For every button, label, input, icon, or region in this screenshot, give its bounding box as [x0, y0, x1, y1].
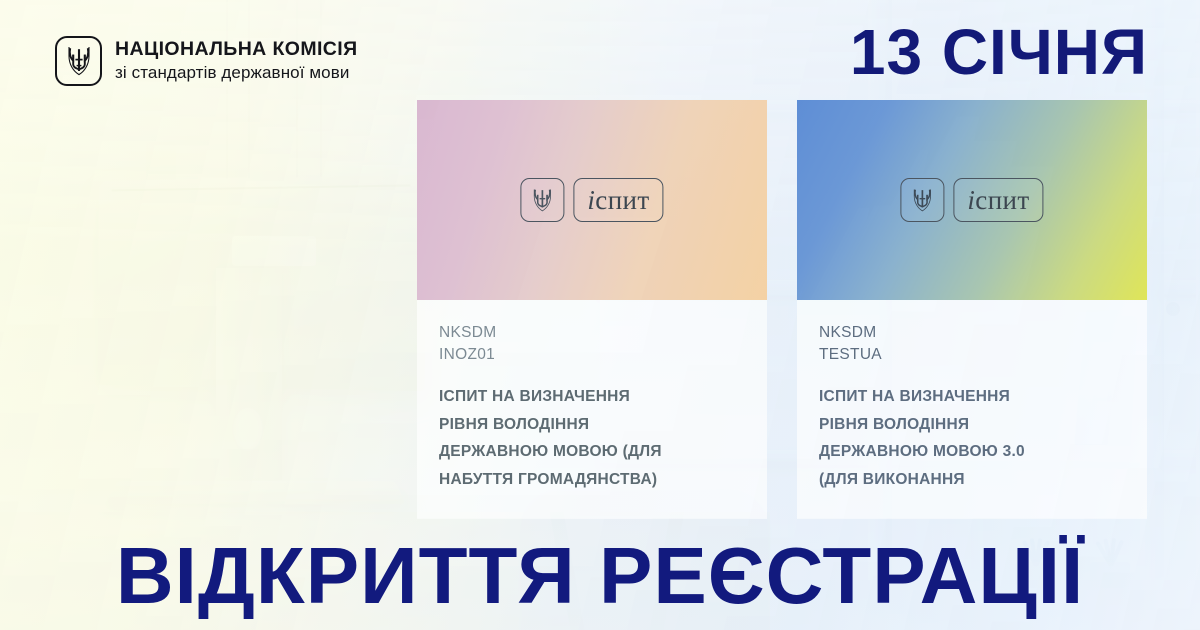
exam-title-line: РІВНЯ ВОЛОДІННЯ [439, 411, 745, 439]
brand-line-2: зі стандартів державної мови [115, 63, 358, 83]
exam-card-thumbnail: iспит [417, 100, 767, 300]
exam-card-list: iспит NKSDM INOZ01 ІСПИТ НА ВИЗНАЧЕННЯ Р… [417, 100, 1147, 518]
exam-card-codes: NKSDM INOZ01 [439, 322, 745, 367]
exam-title-line: НАБУТТЯ ГРОМАДЯНСТВА) [439, 466, 745, 494]
ukraine-trident-icon [520, 178, 564, 222]
exam-card-thumbnail: iспит [797, 100, 1147, 300]
exam-title-line: ІСПИТ НА ВИЗНАЧЕННЯ [819, 383, 1125, 411]
exam-org-code: NKSDM [439, 322, 745, 344]
ispyt-wordmark-rest: спит [595, 187, 649, 214]
exam-code: TESTUA [819, 344, 1125, 366]
exam-code: INOZ01 [439, 344, 745, 366]
brand-line-1: Національна комісія [115, 38, 358, 61]
exam-title-line: ІСПИТ НА ВИЗНАЧЕННЯ [439, 383, 745, 411]
brand-lockup: Національна комісія зі стандартів держав… [55, 36, 358, 86]
poster-content: Національна комісія зі стандартів держав… [0, 0, 1200, 630]
ispyt-logo: iспит [900, 178, 1043, 222]
brand-text: Національна комісія зі стандартів держав… [115, 38, 358, 83]
date-headline: 13 СІЧНЯ [850, 20, 1148, 84]
exam-title-line: (ДЛЯ ВИКОНАННЯ [819, 466, 1125, 494]
exam-card-codes: NKSDM TESTUA [819, 322, 1125, 367]
ukraine-trident-icon [900, 178, 944, 222]
ispyt-wordmark-i: i [587, 187, 595, 214]
ispyt-logo: iспит [520, 178, 663, 222]
exam-title-line: ДЕРЖАВНОЮ МОВОЮ 3.0 [819, 438, 1125, 466]
exam-card-title: ІСПИТ НА ВИЗНАЧЕННЯ РІВНЯ ВОЛОДІННЯ ДЕРЖ… [439, 383, 745, 493]
ispyt-wordmark-rest: спит [975, 187, 1029, 214]
ispyt-wordmark: iспит [573, 178, 663, 222]
exam-card[interactable]: iспит NKSDM TESTUA ІСПИТ НА ВИЗНАЧЕННЯ Р… [797, 100, 1147, 518]
exam-title-line: ДЕРЖАВНОЮ МОВОЮ (ДЛЯ [439, 438, 745, 466]
exam-card-body: NKSDM INOZ01 ІСПИТ НА ВИЗНАЧЕННЯ РІВНЯ В… [417, 300, 767, 518]
bottom-headline: ВІДКРИТТЯ РЕЄСТРАЦІЇ [0, 536, 1200, 616]
exam-card-body: NKSDM TESTUA ІСПИТ НА ВИЗНАЧЕННЯ РІВНЯ В… [797, 300, 1147, 518]
ispyt-wordmark: iспит [953, 178, 1043, 222]
exam-card[interactable]: iспит NKSDM INOZ01 ІСПИТ НА ВИЗНАЧЕННЯ Р… [417, 100, 767, 518]
exam-card-title: ІСПИТ НА ВИЗНАЧЕННЯ РІВНЯ ВОЛОДІННЯ ДЕРЖ… [819, 383, 1125, 493]
exam-org-code: NKSDM [819, 322, 1125, 344]
ukraine-trident-icon [55, 36, 102, 86]
ispyt-wordmark-i: i [967, 187, 975, 214]
exam-title-line: РІВНЯ ВОЛОДІННЯ [819, 411, 1125, 439]
